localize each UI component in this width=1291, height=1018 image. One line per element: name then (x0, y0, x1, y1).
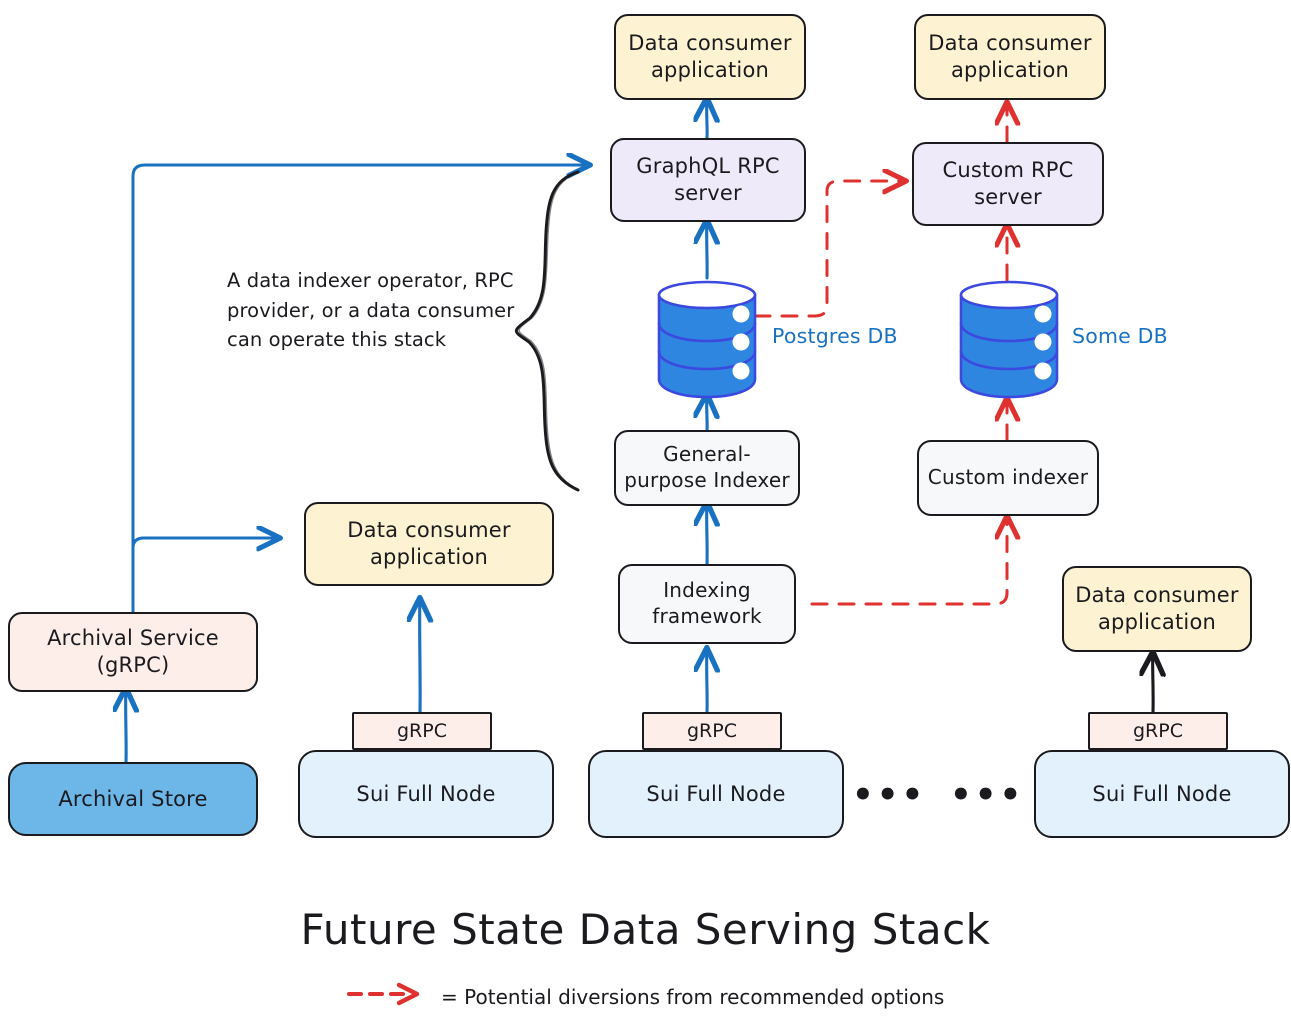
grpc-tab-node-2[interactable]: gRPC (642, 712, 782, 750)
ellipsis-right: ••• (950, 778, 1024, 812)
node-label: GraphQL RPC server (612, 153, 804, 207)
edge-indexing-framework-to-indexer (707, 504, 708, 564)
node-label: Data consumer application (616, 30, 804, 84)
edge-archival-service-to-consumer-mid (133, 538, 278, 612)
node-general-purpose-indexer[interactable]: General-purpose Indexer (614, 430, 800, 506)
ellipsis-left: ••• (852, 778, 926, 812)
edge-archival-store-to-service (126, 690, 127, 762)
node-label: Sui Full Node (1084, 781, 1239, 808)
annotation-stack-operators: A data indexer operator, RPC provider, o… (227, 266, 527, 355)
edge-node2-to-indexing-framework (707, 650, 708, 712)
some-db-label: Some DB (1072, 324, 1168, 348)
node-data-consumer-application-bottom-right[interactable]: Data consumer application (1062, 566, 1252, 652)
diagram-canvas: Data consumer application Data consumer … (0, 0, 1291, 1018)
node-label: Custom RPC server (914, 157, 1102, 211)
node-custom-rpc-server[interactable]: Custom RPC server (912, 142, 1104, 226)
grpc-tab-node-1[interactable]: gRPC (352, 712, 492, 750)
diagram-legend: = Potential diversions from recommended … (0, 982, 1291, 1011)
brace-indexer-stack-shadow (519, 173, 577, 489)
some-db-icon (961, 282, 1057, 397)
legend-label: = Potential diversions from recommended … (441, 985, 944, 1009)
node-indexing-framework[interactable]: Indexing framework (618, 564, 796, 644)
node-label: Data consumer application (1064, 582, 1250, 636)
node-label: General-purpose Indexer (616, 442, 798, 493)
edge-indexing-framework-to-custom-indexer-diversion (812, 518, 1007, 604)
node-sui-full-node-3[interactable]: Sui Full Node (1034, 750, 1290, 838)
node-label: Data consumer application (306, 517, 552, 571)
grpc-tab-label: gRPC (687, 720, 737, 742)
grpc-tab-node-3[interactable]: gRPC (1088, 712, 1228, 750)
node-archival-service-grpc[interactable]: Archival Service (gRPC) (8, 612, 258, 692)
grpc-tab-label: gRPC (397, 720, 447, 742)
node-sui-full-node-2[interactable]: Sui Full Node (588, 750, 844, 838)
node-label: Data consumer application (916, 30, 1104, 84)
node-data-consumer-application-top-left[interactable]: Data consumer application (614, 14, 806, 100)
node-archival-store[interactable]: Archival Store (8, 762, 258, 836)
node-graphql-rpc-server[interactable]: GraphQL RPC server (610, 138, 806, 222)
postgres-db-icon (659, 282, 755, 397)
node-label: Archival Store (50, 786, 215, 813)
node-sui-full-node-1[interactable]: Sui Full Node (298, 750, 554, 838)
postgres-db-label: Postgres DB (772, 324, 898, 348)
grpc-tab-label: gRPC (1133, 720, 1183, 742)
edge-node3-to-consumer-bottom-right (1153, 654, 1154, 712)
node-label: Indexing framework (620, 578, 794, 629)
node-label: Sui Full Node (348, 781, 503, 808)
edge-indexer-to-postgres (707, 396, 708, 432)
edge-node1-to-consumer-mid (420, 600, 421, 712)
red-dashed-arrow-icon (347, 982, 425, 1011)
node-data-consumer-application-mid-left[interactable]: Data consumer application (304, 502, 554, 586)
diagram-title: Future State Data Serving Stack (0, 905, 1291, 954)
edge-graphql-to-consumer-top (707, 100, 708, 138)
node-label: Custom indexer (920, 465, 1096, 491)
node-custom-indexer[interactable]: Custom indexer (917, 440, 1099, 516)
edge-postgres-to-graphql (707, 222, 708, 278)
node-data-consumer-application-top-right[interactable]: Data consumer application (914, 14, 1106, 100)
node-label: Sui Full Node (638, 781, 793, 808)
node-label: Archival Service (gRPC) (10, 625, 256, 679)
